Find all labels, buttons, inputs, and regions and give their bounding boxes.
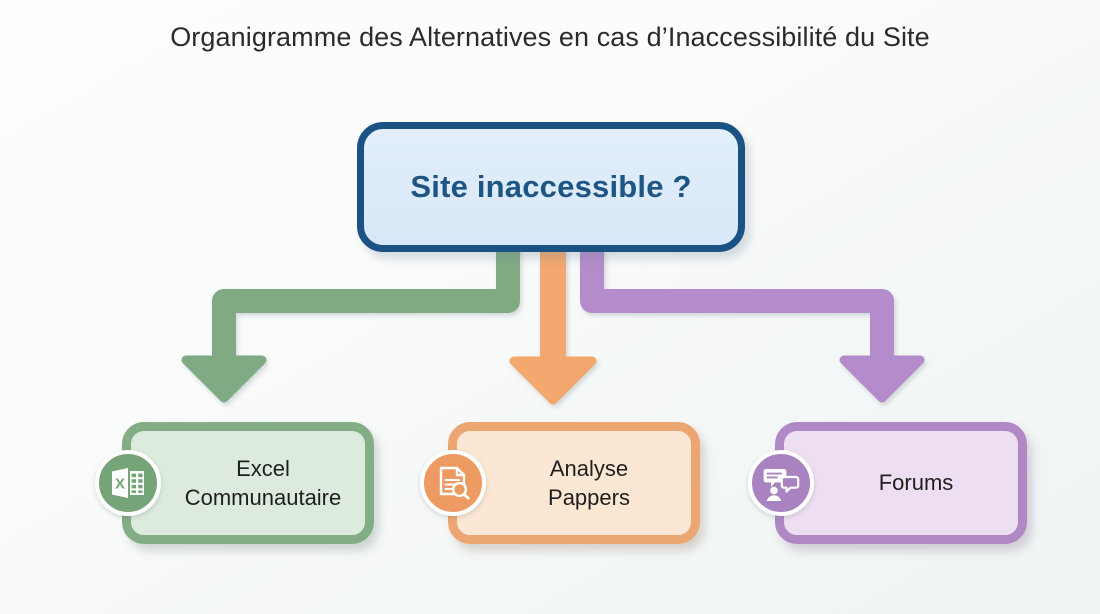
- node-label: Analyse Pappers: [506, 454, 642, 513]
- node-site-inaccessible[interactable]: Site inaccessible ?: [357, 122, 745, 252]
- chat-bubbles-person-icon: [748, 450, 814, 516]
- connector-arrow-forums: [592, 248, 920, 398]
- connector-arrow-excel: [186, 248, 508, 398]
- node-label: Excel Communautaire: [143, 454, 354, 513]
- node-label: Site inaccessible ?: [410, 169, 691, 205]
- excel-spreadsheet-icon: X: [95, 450, 161, 516]
- svg-text:X: X: [115, 476, 125, 493]
- diagram-canvas: Organigramme des Alternatives en cas d’I…: [0, 0, 1100, 614]
- document-search-icon: [420, 450, 486, 516]
- node-label: Forums: [837, 468, 966, 497]
